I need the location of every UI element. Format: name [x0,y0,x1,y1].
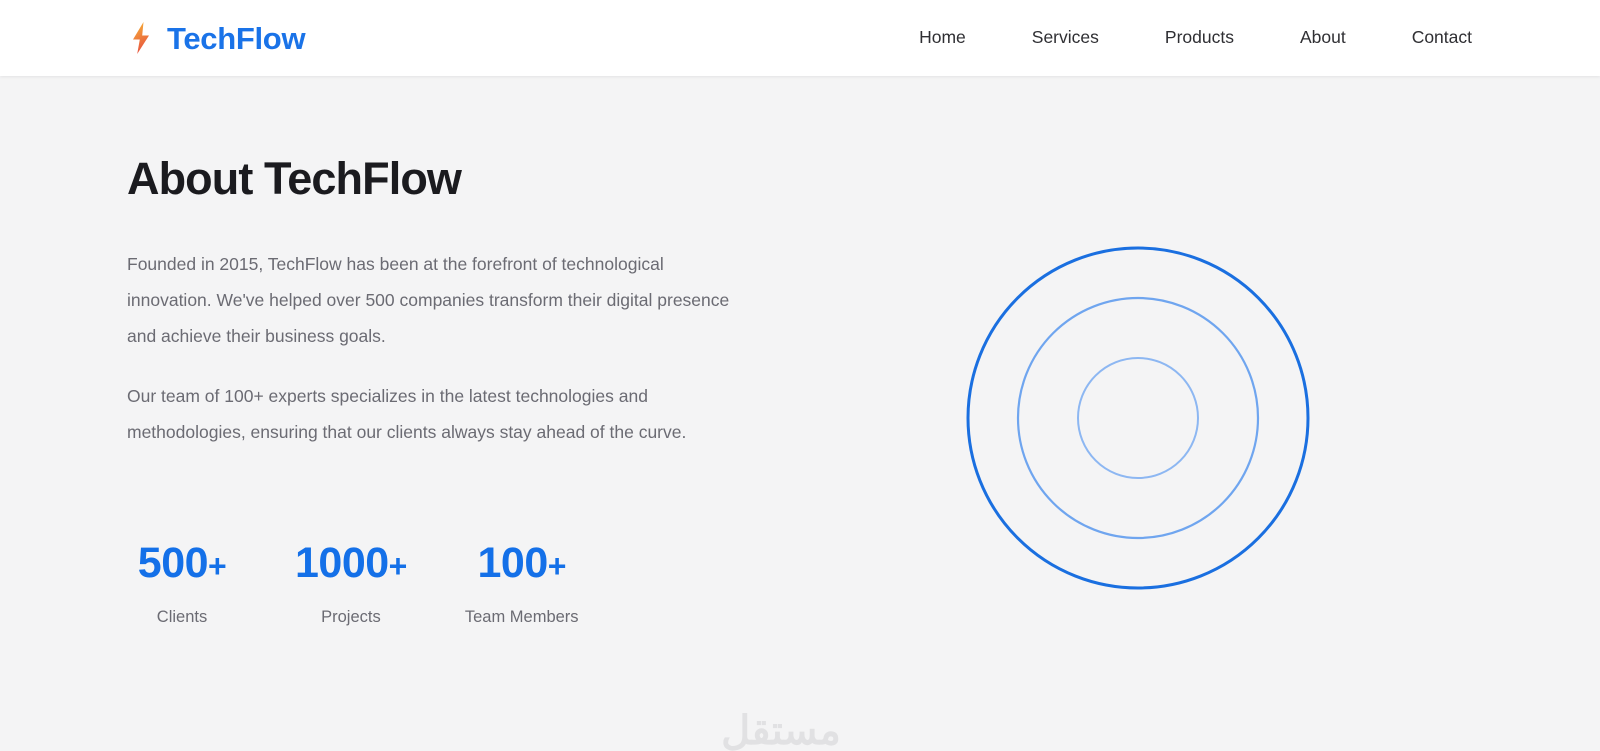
nav-item-products[interactable]: Products [1165,21,1234,55]
watermark-arabic-text: مستقل [676,710,886,751]
stat-clients: 500+ Clients [127,541,237,628]
stat-team-members-suffix: + [548,548,566,584]
stat-projects-label: Projects [295,608,407,628]
lightning-bolt-icon [128,21,154,55]
stat-team-members: 100+ Team Members [465,541,579,628]
site-watermark: مستقل mostaql.com nafeziy.com [676,710,886,751]
stat-team-members-label: Team Members [465,608,579,628]
stat-clients-label: Clients [127,608,237,628]
brand-name: TechFlow [167,23,305,54]
stat-projects: 1000+ Projects [295,541,407,628]
stat-clients-number: 500 [138,539,208,587]
ring-inner [1078,358,1198,478]
stat-projects-value: 1000+ [295,541,407,586]
about-paragraph-1: Founded in 2015, TechFlow has been at th… [127,246,752,354]
header-inner: TechFlow Home Services Products About Co… [0,0,1600,76]
concentric-rings-graphic [948,228,1328,608]
nav-item-contact[interactable]: Contact [1412,21,1472,55]
stat-clients-suffix: + [208,548,226,584]
nav-item-services[interactable]: Services [1032,21,1099,55]
about-text-column: About TechFlow Founded in 2015, TechFlow… [127,154,787,450]
site-header: TechFlow Home Services Products About Co… [0,0,1600,76]
brand-logo-link[interactable]: TechFlow [128,0,305,76]
nav-item-about[interactable]: About [1300,21,1346,55]
page-title: About TechFlow [127,154,787,204]
main-navigation: Home Services Products About Contact [919,0,1472,76]
ring-middle [1018,298,1258,538]
stat-projects-number: 1000 [295,539,389,587]
nav-item-home[interactable]: Home [919,21,966,55]
stat-team-members-value: 100+ [465,541,579,586]
stats-row: 500+ Clients 1000+ Projects 100+ Team Me… [127,541,579,628]
stat-projects-suffix: + [389,548,407,584]
stat-clients-value: 500+ [127,541,237,586]
about-paragraph-2: Our team of 100+ experts specializes in … [127,378,752,450]
stat-team-members-number: 100 [477,539,547,587]
about-section: About TechFlow Founded in 2015, TechFlow… [0,76,1600,751]
